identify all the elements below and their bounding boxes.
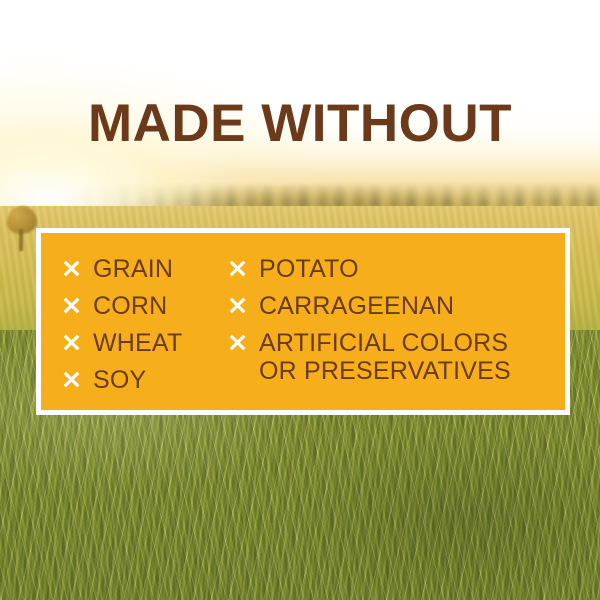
list-item: ARTIFICIAL COLORS OR PRESERVATIVES xyxy=(227,329,557,385)
x-mark-icon xyxy=(227,295,248,316)
x-mark-icon xyxy=(61,369,82,390)
made-without-panel: GRAIN CORN WHEAT xyxy=(36,228,570,415)
list-item-label: WHEAT xyxy=(93,329,182,357)
page-title: MADE WITHOUT xyxy=(0,96,600,152)
list-item: CORN xyxy=(61,292,243,320)
list-item: CARRAGEENAN xyxy=(227,292,557,320)
list-item: GRAIN xyxy=(61,255,243,283)
x-mark-icon xyxy=(61,332,82,353)
list-item: SOY xyxy=(61,366,243,394)
x-mark-icon xyxy=(227,258,248,279)
list-item-label: POTATO xyxy=(259,255,359,283)
list-item-label: SOY xyxy=(93,366,146,394)
list-item-label: CARRAGEENAN xyxy=(259,292,454,320)
list-item: POTATO xyxy=(227,255,557,283)
exclusion-list-right: POTATO CARRAGEENAN xyxy=(227,255,557,394)
list-item: WHEAT xyxy=(61,329,243,357)
promo-graphic: MADE WITHOUT GRAIN xyxy=(0,0,600,600)
panel-content: GRAIN CORN WHEAT xyxy=(41,233,565,410)
x-mark-icon xyxy=(227,332,248,353)
x-mark-icon xyxy=(61,258,82,279)
list-item-label: CORN xyxy=(93,292,167,320)
list-item-label: GRAIN xyxy=(93,255,173,283)
tree-trunk xyxy=(19,229,23,251)
list-item-label: ARTIFICIAL COLORS OR PRESERVATIVES xyxy=(259,329,511,385)
x-mark-icon xyxy=(61,295,82,316)
exclusion-list-left: GRAIN CORN WHEAT xyxy=(61,255,243,403)
